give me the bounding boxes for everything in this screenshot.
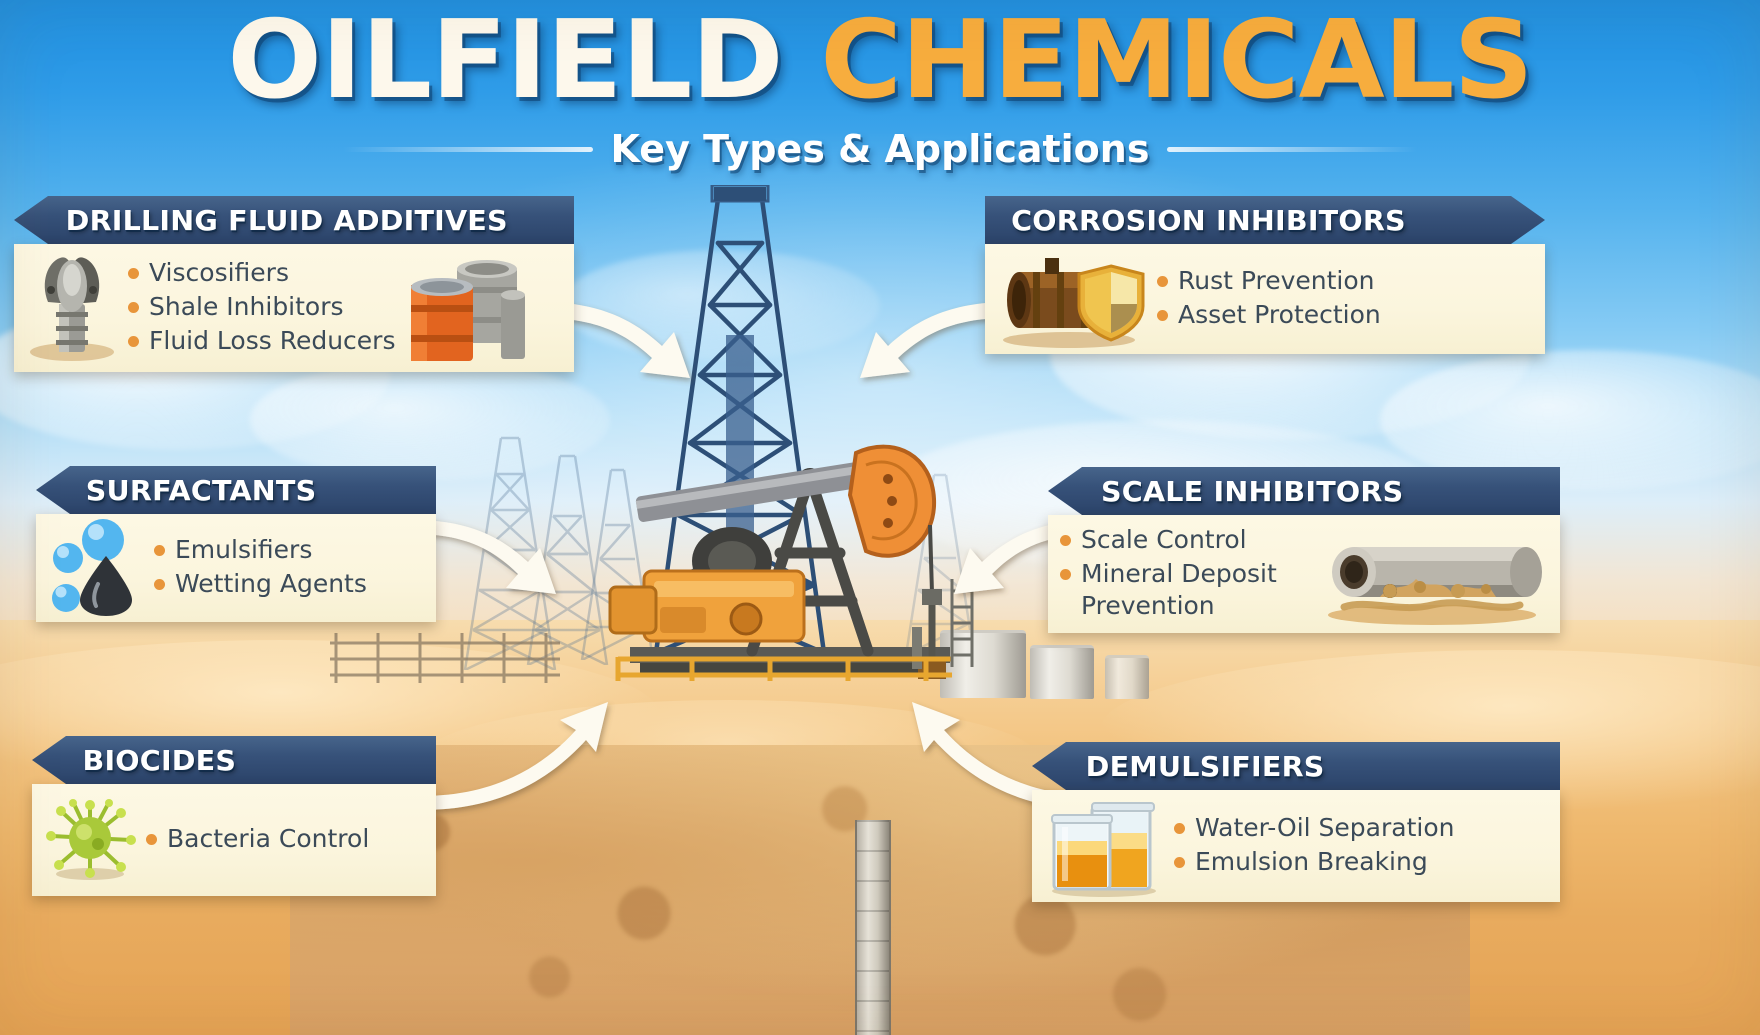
list-item: Rust Prevention	[1157, 265, 1381, 297]
bullet-text: Shale Inhibitors	[149, 291, 344, 323]
bullet-dot-icon	[1174, 823, 1185, 834]
bullet-dot-icon	[1060, 535, 1071, 546]
bullet-list: Water-Oil Separation Emulsion Breaking	[1174, 812, 1454, 878]
card-title: SURFACTANTS	[86, 474, 317, 507]
title-word-oilfield: OILFIELD	[227, 0, 782, 123]
bullet-text: Rust Prevention	[1178, 265, 1375, 297]
bullet-text: Wetting Agents	[175, 568, 367, 600]
fence	[330, 625, 560, 685]
bullet-text: Mineral Deposit Prevention	[1081, 558, 1277, 622]
bullet-dot-icon	[154, 545, 165, 556]
bullet-dot-icon	[1060, 569, 1071, 580]
card-title: SCALE INHIBITORS	[1101, 475, 1403, 508]
card-corrosion-inhibitors[interactable]: CORROSION INHIBITORS	[985, 196, 1545, 354]
card-scale-inhibitors[interactable]: SCALE INHIBITORS Scale Control Mineral D…	[1048, 467, 1560, 633]
separation-beakers-icon	[1044, 793, 1164, 897]
card-surfactants[interactable]: SURFACTANTS Emulsifiers Wetti	[36, 466, 436, 622]
pumpjack	[600, 375, 1000, 705]
card-header-drilling-fluid-additives: DRILLING FLUID ADDITIVES	[14, 196, 574, 244]
bullet-text: Bacteria Control	[167, 823, 369, 855]
card-header-biocides: BIOCIDES	[32, 736, 436, 784]
page-title: OILFIELD CHEMICALS Key Types & Applicati…	[0, 4, 1760, 171]
bullet-dot-icon	[146, 834, 157, 845]
list-item: Viscosifiers	[128, 257, 395, 289]
list-item: Bacteria Control	[146, 823, 369, 855]
bullet-dot-icon	[1174, 857, 1185, 868]
card-title: BIOCIDES	[82, 744, 236, 777]
card-title: CORROSION INHIBITORS	[1011, 204, 1406, 237]
drill-bit-icon	[26, 252, 118, 362]
bacteria-icon	[44, 796, 136, 882]
card-demulsifiers[interactable]: DEMULSIFIERS	[1032, 742, 1560, 902]
water-droplets-icon	[48, 518, 144, 616]
list-item: Wetting Agents	[154, 568, 367, 600]
bullet-dot-icon	[128, 302, 139, 313]
bullet-list: Emulsifiers Wetting Agents	[154, 534, 367, 600]
bullet-text: Viscosifiers	[149, 257, 289, 289]
list-item: Mineral Deposit Prevention	[1060, 558, 1277, 622]
bullet-text: Emulsifiers	[175, 534, 312, 566]
list-item: Fluid Loss Reducers	[128, 325, 395, 357]
card-body: Scale Control Mineral Deposit Prevention	[1048, 515, 1560, 633]
card-title: DEMULSIFIERS	[1086, 750, 1325, 783]
card-body: Viscosifiers Shale Inhibitors Fluid Loss…	[14, 244, 574, 372]
page-subtitle: Key Types & Applications	[611, 127, 1150, 171]
list-item: Water-Oil Separation	[1174, 812, 1454, 844]
card-body: Emulsifiers Wetting Agents	[36, 514, 436, 622]
bullet-text: Water-Oil Separation	[1195, 812, 1454, 844]
title-word-chemicals: CHEMICALS	[820, 0, 1532, 123]
card-header-surfactants: SURFACTANTS	[36, 466, 436, 514]
card-body: Bacteria Control	[32, 784, 436, 896]
bullet-list: Bacteria Control	[146, 823, 369, 855]
bullet-dot-icon	[128, 268, 139, 279]
storage-tank	[1105, 655, 1149, 699]
scaled-pipe-icon	[1320, 521, 1544, 625]
subtitle-rule-left	[343, 147, 593, 152]
subtitle-rule-right	[1167, 147, 1417, 152]
list-item: Asset Protection	[1157, 299, 1381, 331]
card-header-corrosion-inhibitors: CORROSION INHIBITORS	[985, 196, 1545, 244]
card-biocides[interactable]: BIOCIDES	[32, 736, 436, 896]
list-item: Emulsifiers	[154, 534, 367, 566]
card-header-demulsifiers: DEMULSIFIERS	[1032, 742, 1560, 790]
card-body: Water-Oil Separation Emulsion Breaking	[1032, 790, 1560, 902]
rusty-pipe-icon	[997, 248, 1147, 348]
bullet-list: Rust Prevention Asset Protection	[1157, 265, 1381, 331]
list-item: Emulsion Breaking	[1174, 846, 1454, 878]
card-title: DRILLING FLUID ADDITIVES	[66, 204, 508, 237]
card-header-scale-inhibitors: SCALE INHIBITORS	[1048, 467, 1560, 515]
bullet-dot-icon	[128, 336, 139, 347]
bullet-list: Scale Control Mineral Deposit Prevention	[1060, 524, 1277, 622]
card-body: Rust Prevention Asset Protection	[985, 244, 1545, 354]
storage-tank	[1030, 645, 1094, 699]
list-item: Scale Control	[1060, 524, 1277, 556]
bullet-dot-icon	[1157, 310, 1168, 321]
bullet-text: Asset Protection	[1178, 299, 1381, 331]
bullet-dot-icon	[1157, 276, 1168, 287]
list-item: Shale Inhibitors	[128, 291, 395, 323]
oil-drums-icon	[405, 251, 525, 363]
card-drilling-fluid-additives[interactable]: DRILLING FLUID ADDITIVES Viscosif	[14, 196, 574, 372]
bullet-dot-icon	[154, 579, 165, 590]
bullet-text: Fluid Loss Reducers	[149, 325, 395, 357]
bullet-text: Scale Control	[1081, 524, 1247, 556]
wellbore-casing	[855, 820, 891, 1035]
bullet-text: Emulsion Breaking	[1195, 846, 1428, 878]
bullet-list: Viscosifiers Shale Inhibitors Fluid Loss…	[128, 257, 395, 357]
